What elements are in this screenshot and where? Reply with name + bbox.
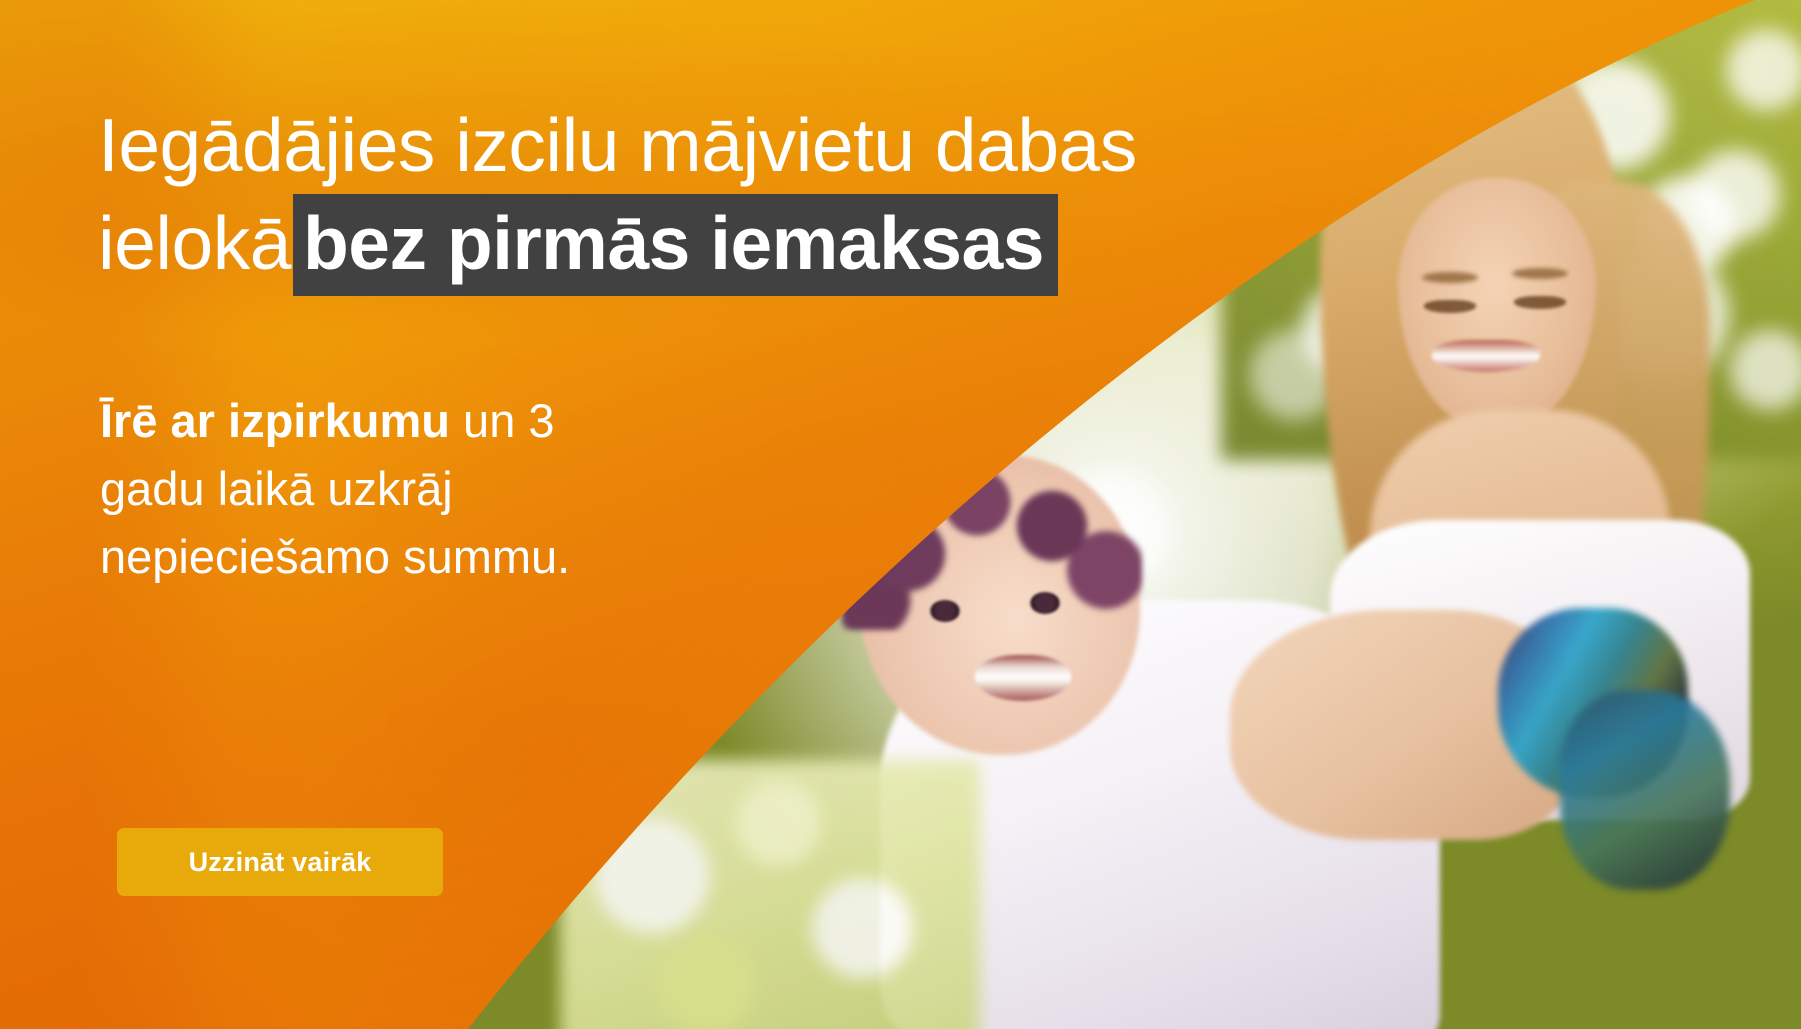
subcopy-bold: Īrē ar izpirkumu xyxy=(100,394,450,447)
banner-content: Iegādājies izcilu mājvietu dabas ielokāb… xyxy=(0,0,1801,1029)
learn-more-button[interactable]: Uzzināt vairāk xyxy=(117,828,443,896)
headline-line-2-plain: ielokā xyxy=(98,201,291,285)
promotional-banner: Iegādājies izcilu mājvietu dabas ielokāb… xyxy=(0,0,1801,1029)
headline: Iegādājies izcilu mājvietu dabas ielokāb… xyxy=(98,96,1358,292)
headline-line-1: Iegādājies izcilu mājvietu dabas xyxy=(98,96,1358,194)
headline-highlight: bez pirmās iemaksas xyxy=(293,194,1058,296)
headline-line-2: ielokābez pirmās iemaksas xyxy=(98,194,1358,292)
subcopy: Īrē ar izpirkumu un 3 gadu laikā uzkrāj … xyxy=(100,387,620,591)
